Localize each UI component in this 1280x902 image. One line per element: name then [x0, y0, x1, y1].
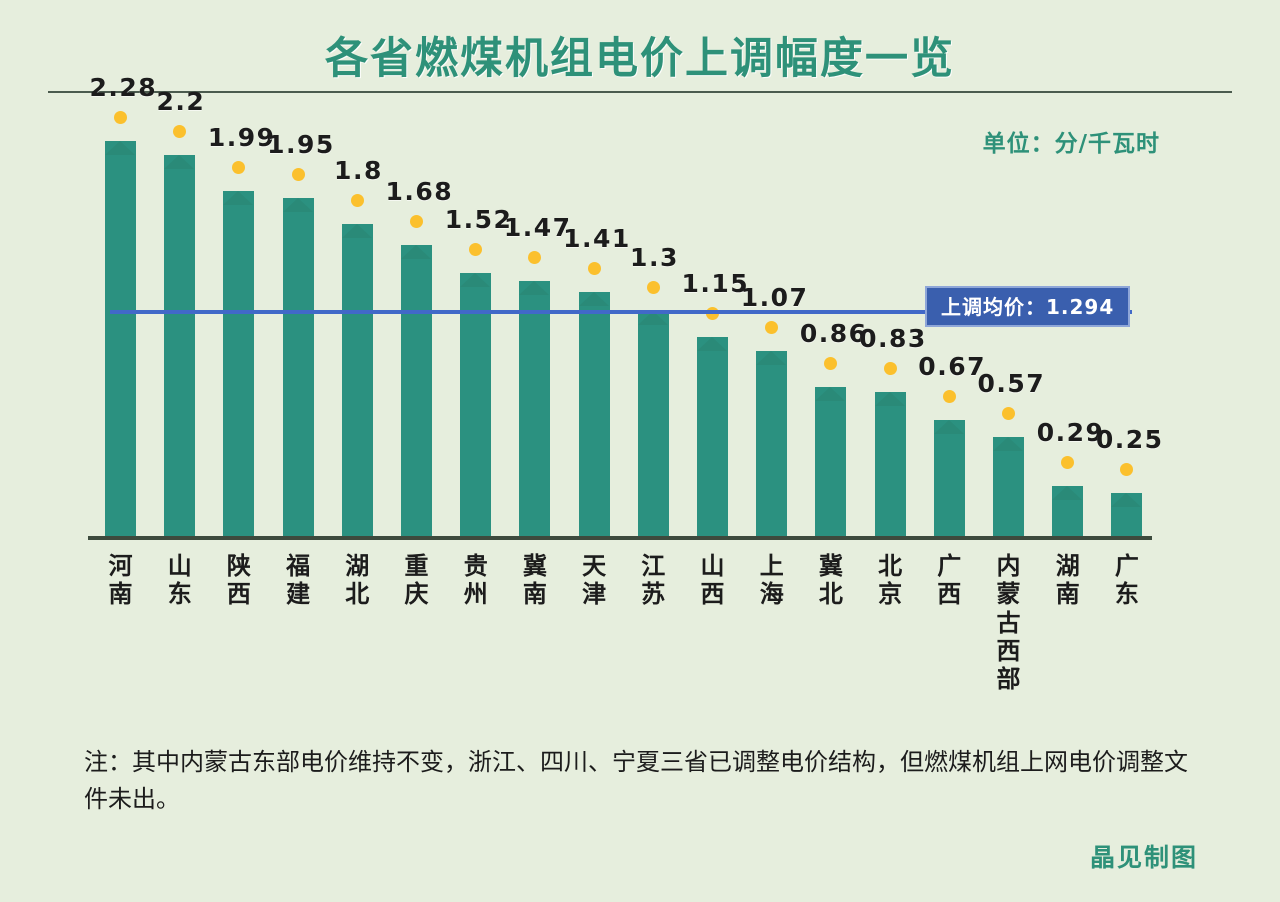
value-dot-marker: [943, 390, 956, 403]
average-badge: 上调均价：1.294: [925, 286, 1130, 327]
value-label: 1.52: [445, 205, 513, 234]
category-label-陕西: 陕西: [217, 552, 261, 609]
bar-cap-icon: [460, 273, 491, 287]
bar-cap-icon: [579, 292, 610, 306]
value-dot-marker: [1061, 456, 1074, 469]
value-label: 0.29: [1037, 418, 1105, 447]
bar-广西: [934, 420, 965, 536]
bar-北京: [875, 392, 906, 536]
bar-cap-icon: [815, 387, 846, 401]
bar-陕西: [223, 191, 254, 536]
bar-山东: [164, 155, 195, 536]
value-dot-marker: [351, 194, 364, 207]
value-dot-marker: [824, 357, 837, 370]
value-label: 1.8: [334, 156, 383, 185]
value-dot-marker: [173, 125, 186, 138]
bar-cap-icon: [1111, 493, 1142, 507]
value-dot-marker: [292, 168, 305, 181]
bar-cap-icon: [934, 420, 965, 434]
category-label-山东: 山东: [158, 552, 202, 609]
bar-cap-icon: [1052, 486, 1083, 500]
category-label-冀北: 冀北: [809, 552, 853, 609]
value-dot-marker: [232, 161, 245, 174]
bar-cap-icon: [342, 224, 373, 238]
bar-cap-icon: [697, 337, 728, 351]
bar-cap-icon: [164, 155, 195, 169]
value-label: 2.2: [156, 87, 205, 116]
bar-上海: [756, 351, 787, 536]
value-dot-marker: [647, 281, 660, 294]
value-label: 1.15: [682, 269, 750, 298]
value-dot-marker: [1002, 407, 1015, 420]
value-dot-marker: [1120, 463, 1133, 476]
bar-山西: [697, 337, 728, 536]
bar-cap-icon: [519, 281, 550, 295]
value-label: 0.25: [1096, 425, 1164, 454]
category-label-山西: 山西: [691, 552, 735, 609]
value-label: 1.3: [630, 243, 679, 272]
value-dot-marker: [588, 262, 601, 275]
category-label-湖北: 湖北: [335, 552, 379, 609]
value-dot-marker: [528, 251, 541, 264]
bar-河南: [105, 141, 136, 536]
credit-watermark: 晶见制图: [1090, 838, 1198, 874]
bar-湖北: [342, 224, 373, 536]
x-axis-line: [88, 536, 1152, 540]
category-label-重庆: 重庆: [395, 552, 439, 609]
bar-冀北: [815, 387, 846, 536]
category-label-江苏: 江苏: [631, 552, 675, 609]
value-label: 0.83: [859, 324, 927, 353]
bar-cap-icon: [283, 198, 314, 212]
value-dot-marker: [114, 111, 127, 124]
bar-cap-icon: [401, 245, 432, 259]
bar-冀南: [519, 281, 550, 536]
category-label-天津: 天津: [572, 552, 616, 609]
bar-天津: [579, 292, 610, 536]
bar-重庆: [401, 245, 432, 536]
category-label-内蒙古西部: 内蒙古西部: [987, 552, 1031, 694]
value-dot-marker: [469, 243, 482, 256]
bar-cap-icon: [223, 191, 254, 205]
category-label-北京: 北京: [868, 552, 912, 609]
value-label: 0.86: [800, 319, 868, 348]
value-label: 1.41: [563, 224, 631, 253]
bar-cap-icon: [993, 437, 1024, 451]
value-label: 1.47: [504, 213, 572, 242]
category-label-广东: 广东: [1105, 552, 1149, 609]
bar-cap-icon: [105, 141, 136, 155]
category-label-湖南: 湖南: [1046, 552, 1090, 609]
value-label: 1.68: [386, 177, 454, 206]
category-label-福建: 福建: [276, 552, 320, 609]
value-label: 0.67: [918, 352, 986, 381]
bar-cap-icon: [875, 392, 906, 406]
value-label: 1.99: [208, 123, 276, 152]
footnote-text: 注：其中内蒙古东部电价维持不变，浙江、四川、宁夏三省已调整电价结构，但燃煤机组上…: [84, 744, 1194, 818]
category-label-上海: 上海: [750, 552, 794, 609]
bar-内蒙古西部: [993, 437, 1024, 536]
category-label-冀南: 冀南: [513, 552, 557, 609]
value-dot-marker: [410, 215, 423, 228]
value-label: 1.95: [267, 130, 335, 159]
value-dot-marker: [884, 362, 897, 375]
bar-cap-icon: [756, 351, 787, 365]
value-label: 2.28: [90, 73, 158, 102]
bar-江苏: [638, 311, 669, 536]
value-label: 0.57: [978, 369, 1046, 398]
value-dot-marker: [765, 321, 778, 334]
category-label-河南: 河南: [99, 552, 143, 609]
bar-福建: [283, 198, 314, 536]
value-label: 1.07: [741, 283, 809, 312]
category-label-广西: 广西: [927, 552, 971, 609]
category-label-贵州: 贵州: [454, 552, 498, 609]
